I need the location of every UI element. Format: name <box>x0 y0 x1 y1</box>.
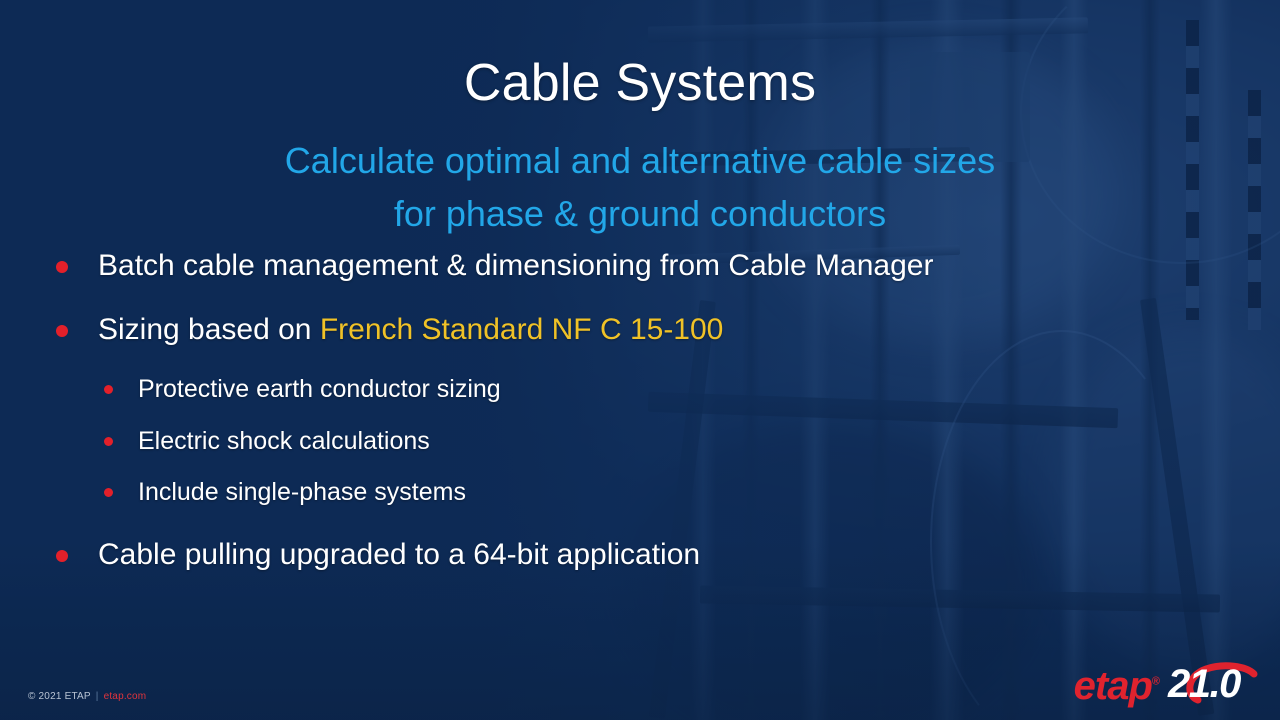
bullet-text-plain: Cable pulling upgraded to a 64-bit appli… <box>98 538 700 571</box>
bullet-text-highlight: French Standard NF C 15-100 <box>320 313 724 346</box>
footer-copyright: © 2021 ETAP|etap.com <box>28 691 146 702</box>
bullet-item: Protective earth conductor sizing <box>96 373 1240 406</box>
bullet-marker-icon <box>104 437 113 446</box>
bullet-text-plain: Batch cable management & dimensioning fr… <box>98 249 933 282</box>
bullet-text: Sizing based on French Standard NF C 15-… <box>98 310 723 350</box>
footer-website-link[interactable]: etap.com <box>104 691 147 702</box>
etap-wordmark-text: etap <box>1074 664 1152 708</box>
bullet-marker-icon <box>56 550 68 562</box>
slide-title: Cable Systems <box>0 56 1280 111</box>
bullet-list: Batch cable management & dimensioning fr… <box>48 246 1240 598</box>
bullet-item: Cable pulling upgraded to a 64-bit appli… <box>48 535 1240 575</box>
subtitle-line-1: Calculate optimal and alternative cable … <box>0 134 1280 187</box>
bullet-marker-icon <box>104 488 113 497</box>
bullet-marker-icon <box>56 325 68 337</box>
subtitle-line-2: for phase & ground conductors <box>0 187 1280 240</box>
registered-trademark-icon: ® <box>1152 676 1159 688</box>
etap-version-text: 21.0 <box>1168 664 1240 704</box>
slide-subtitle: Calculate optimal and alternative cable … <box>0 134 1280 241</box>
slide-content: Cable Systems Calculate optimal and alte… <box>0 0 1280 720</box>
bullet-marker-icon <box>104 385 113 394</box>
bullet-item: Batch cable management & dimensioning fr… <box>48 246 1240 286</box>
presentation-slide: Cable Systems Calculate optimal and alte… <box>0 0 1280 720</box>
bullet-text-plain: Include single-phase systems <box>138 478 466 506</box>
bullet-item: Include single-phase systems <box>96 476 1240 509</box>
copyright-text: © 2021 ETAP <box>28 691 91 702</box>
footer-separator: | <box>96 691 99 702</box>
etap-version-badge: 21.0 <box>1168 660 1264 706</box>
bullet-text: Batch cable management & dimensioning fr… <box>98 246 933 286</box>
bullet-text-plain: Sizing based on <box>98 313 320 346</box>
bullet-text: Protective earth conductor sizing <box>138 373 501 406</box>
bullet-item: Electric shock calculations <box>96 425 1240 458</box>
bullet-text: Electric shock calculations <box>138 425 430 458</box>
bullet-text: Include single-phase systems <box>138 476 466 509</box>
bullet-text: Cable pulling upgraded to a 64-bit appli… <box>98 535 700 575</box>
bullet-text-plain: Electric shock calculations <box>138 427 430 455</box>
etap-wordmark: etap® <box>1074 666 1159 706</box>
bullet-marker-icon <box>56 261 68 273</box>
etap-logo: etap® 21.0 <box>1074 660 1264 706</box>
bullet-text-plain: Protective earth conductor sizing <box>138 375 501 403</box>
bullet-item: Sizing based on French Standard NF C 15-… <box>48 310 1240 350</box>
